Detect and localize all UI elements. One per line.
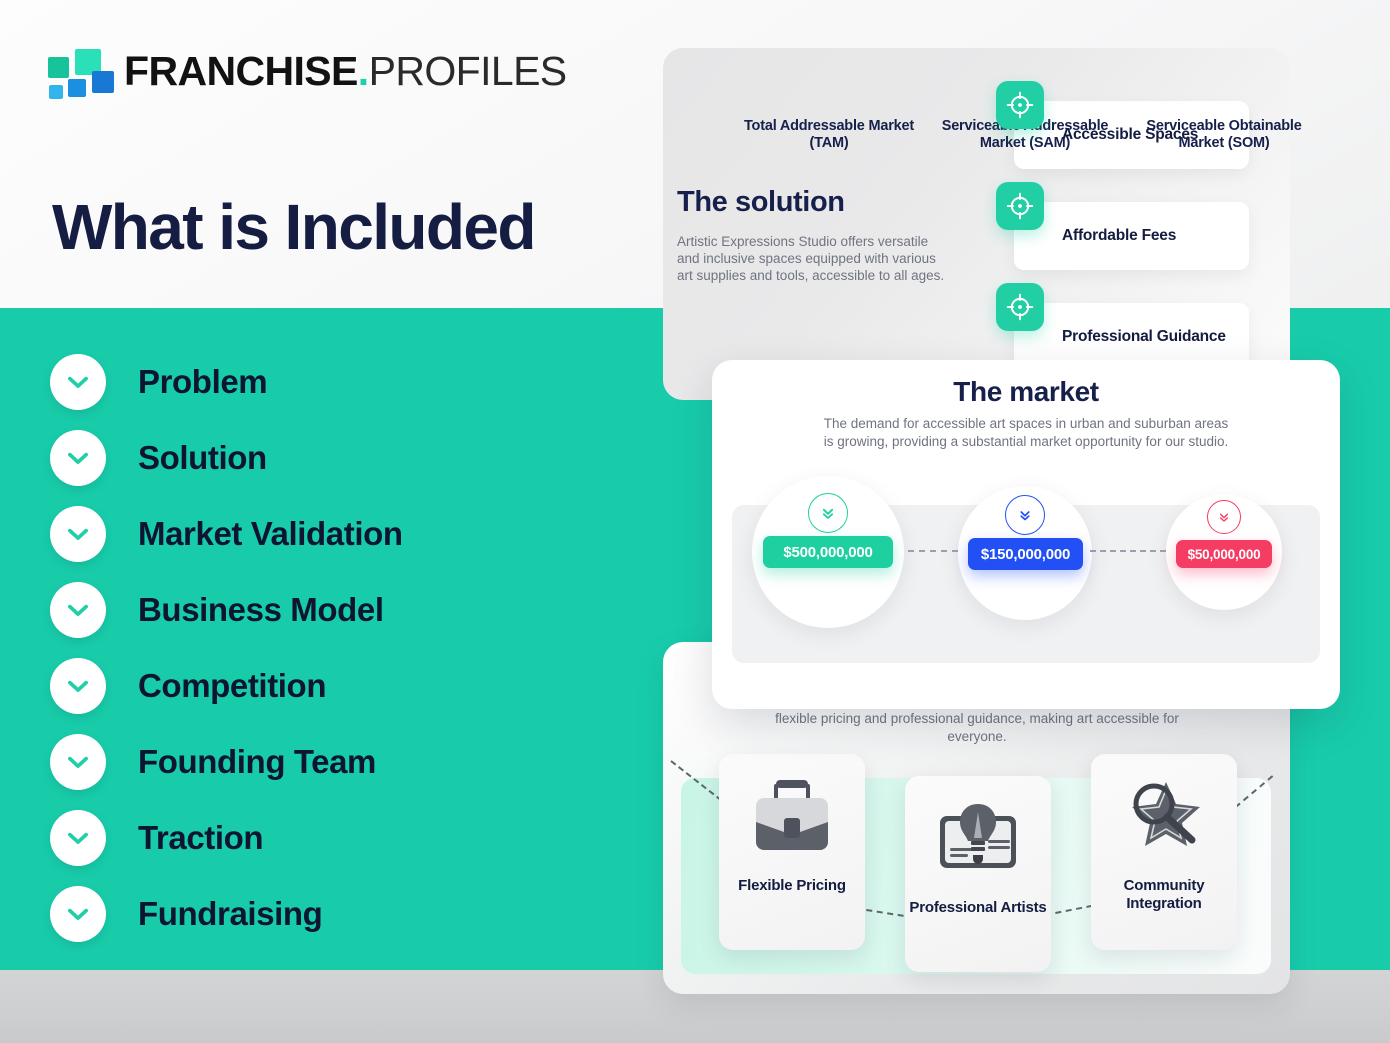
chevron-down-icon: [50, 430, 106, 486]
market-value-som: $50,000,000: [1176, 540, 1272, 568]
list-item-label: Competition: [138, 667, 326, 705]
list-item-label: Traction: [138, 819, 263, 857]
brand-logo-text: FRANCHISE.PROFILES: [124, 48, 567, 95]
target-crosshair-icon: [996, 182, 1044, 230]
list-item[interactable]: Solution: [50, 420, 403, 496]
list-item[interactable]: Founding Team: [50, 724, 403, 800]
chevron-down-icon: [50, 582, 106, 638]
list-item-label: Founding Team: [138, 743, 376, 781]
squares-logo-icon: [48, 49, 110, 95]
solution-description: Artistic Expressions Studio offers versa…: [677, 233, 945, 284]
chevron-down-icon: [50, 886, 106, 942]
list-item-label: Solution: [138, 439, 267, 477]
market-label-som: Serviceable Obtainable Market (SOM): [1128, 118, 1320, 152]
market-connector-dash-1: [908, 550, 958, 552]
value-card-label: Community Integration: [1091, 877, 1237, 913]
chevron-down-icon: [50, 658, 106, 714]
value-card-community-integration[interactable]: Community Integration: [1091, 754, 1237, 950]
list-item-label: Market Validation: [138, 515, 403, 553]
briefcase-icon: [746, 776, 838, 863]
star-magnifier-icon: [1118, 776, 1210, 863]
list-item[interactable]: Problem: [50, 344, 403, 420]
value-card-flexible-pricing[interactable]: Flexible Pricing: [719, 754, 865, 950]
market-description: The demand for accessible art spaces in …: [822, 415, 1230, 450]
chevron-down-icon: [50, 506, 106, 562]
market-connector-dash-2: [1090, 550, 1166, 552]
included-checklist: Problem Solution Market Validation Busin…: [50, 344, 403, 952]
chevron-down-icon: [50, 810, 106, 866]
chevron-down-icon: [50, 354, 106, 410]
solution-item-label: Affordable Fees: [1062, 227, 1176, 245]
double-chevron-down-icon: [808, 493, 848, 533]
list-item-label: Business Model: [138, 591, 384, 629]
target-crosshair-icon: [996, 283, 1044, 331]
double-chevron-down-icon: [1005, 495, 1045, 535]
list-item[interactable]: Traction: [50, 800, 403, 876]
page-title: What is Included: [52, 190, 535, 264]
brand-name-bold: FRANCHISE: [124, 48, 358, 94]
list-item[interactable]: Fundraising: [50, 876, 403, 952]
list-item[interactable]: Business Model: [50, 572, 403, 648]
brand-name-dot: .: [358, 48, 369, 94]
market-title: The market: [712, 376, 1340, 408]
list-item[interactable]: Market Validation: [50, 496, 403, 572]
chevron-down-icon: [50, 734, 106, 790]
market-value-sam: $150,000,000: [968, 538, 1083, 570]
market-label-tam: Total Addressable Market (TAM): [733, 118, 925, 152]
market-value-tam: $500,000,000: [763, 536, 893, 568]
solution-title: The solution: [677, 186, 845, 219]
target-crosshair-icon: [996, 81, 1044, 129]
solution-card: Accessible Spaces Affordable Fees Profes…: [663, 48, 1290, 400]
values-description: flexible pricing and professional guidan…: [763, 710, 1191, 745]
solution-item-label: Professional Guidance: [1062, 328, 1226, 346]
list-item-label: Fundraising: [138, 895, 322, 933]
solution-item-card[interactable]: Affordable Fees: [1014, 202, 1249, 270]
value-card-label: Professional Artists: [909, 899, 1046, 917]
brand-logo[interactable]: FRANCHISE.PROFILES: [48, 48, 567, 95]
list-item[interactable]: Competition: [50, 648, 403, 724]
brand-name-light: PROFILES: [369, 48, 567, 94]
lightbulb-certificate-icon: [932, 798, 1024, 885]
list-item-label: Problem: [138, 363, 267, 401]
value-card-label: Flexible Pricing: [738, 877, 846, 895]
double-chevron-down-icon: [1207, 500, 1241, 534]
value-card-professional-artists[interactable]: Professional Artists: [905, 776, 1051, 972]
